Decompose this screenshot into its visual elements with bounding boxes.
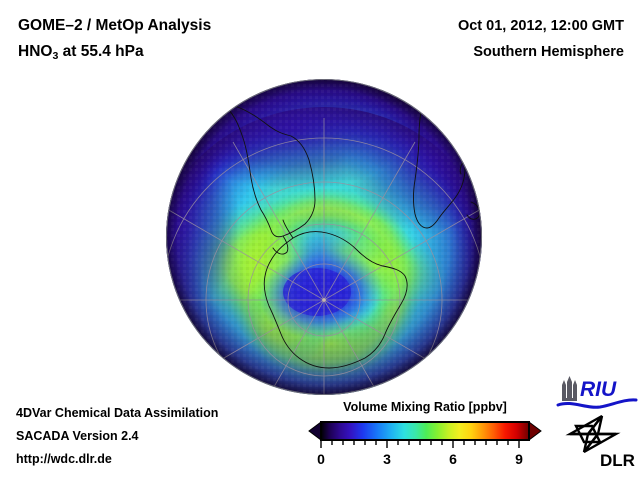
colorbar-gradient <box>321 422 529 440</box>
globe-limb-shade <box>166 79 482 395</box>
riu-wordmark: RIU <box>580 378 617 401</box>
colorbar-cap-low <box>309 422 321 440</box>
page-title: GOME–2 / MetOp Analysis HNO3 at 55.4 hPa <box>18 13 211 66</box>
species-subscript: 3 <box>52 50 58 62</box>
visualization-page: GOME–2 / MetOp Analysis HNO3 at 55.4 hPa… <box>0 0 640 480</box>
footer-line-method: 4DVar Chemical Data Assimilation <box>16 402 218 425</box>
coast-island-south-georgia <box>213 367 227 375</box>
colorbar-tick-1: 3 <box>383 451 391 467</box>
colorbar-cap-high <box>529 422 541 440</box>
footer-text: 4DVar Chemical Data Assimilation SACADA … <box>16 402 218 471</box>
colorbar-ticks <box>321 440 519 448</box>
globe-svg <box>165 78 483 396</box>
colorbar-tick-labels: 0 3 6 9 <box>317 451 523 467</box>
riu-logo: RIU <box>556 374 638 414</box>
dlr-logo: DLR <box>558 412 638 470</box>
coast-island-south-sandwich <box>267 393 281 396</box>
colorbar-tick-3: 9 <box>515 451 523 467</box>
colorbar-tick-2: 6 <box>449 451 457 467</box>
colorbar-title: Volume Mixing Ratio [ppbv] <box>305 400 545 414</box>
colorbar: Volume Mixing Ratio [ppbv] <box>305 400 545 470</box>
timestamp-label: Oct 01, 2012, 12:00 GMT <box>458 13 624 39</box>
species-name: HNO <box>18 43 52 60</box>
title-line-species: HNO3 at 55.4 hPa <box>18 39 211 66</box>
globe-map <box>165 78 483 396</box>
footer-line-url[interactable]: http://wdc.dlr.de <box>16 448 218 471</box>
footer-line-version: SACADA Version 2.4 <box>16 425 218 448</box>
dlr-wordmark: DLR <box>600 451 635 470</box>
title-line-instrument: GOME–2 / MetOp Analysis <box>18 13 211 39</box>
colorbar-svg: 0 3 6 9 <box>305 418 545 470</box>
header-meta: Oct 01, 2012, 12:00 GMT Southern Hemisph… <box>458 13 624 65</box>
species-level: at 55.4 hPa <box>58 43 143 60</box>
coast-new-zealand <box>465 380 470 396</box>
colorbar-tick-0: 0 <box>317 451 325 467</box>
region-label: Southern Hemisphere <box>458 39 624 65</box>
riu-tower-icon <box>562 376 577 401</box>
dlr-star-icon <box>570 416 616 452</box>
